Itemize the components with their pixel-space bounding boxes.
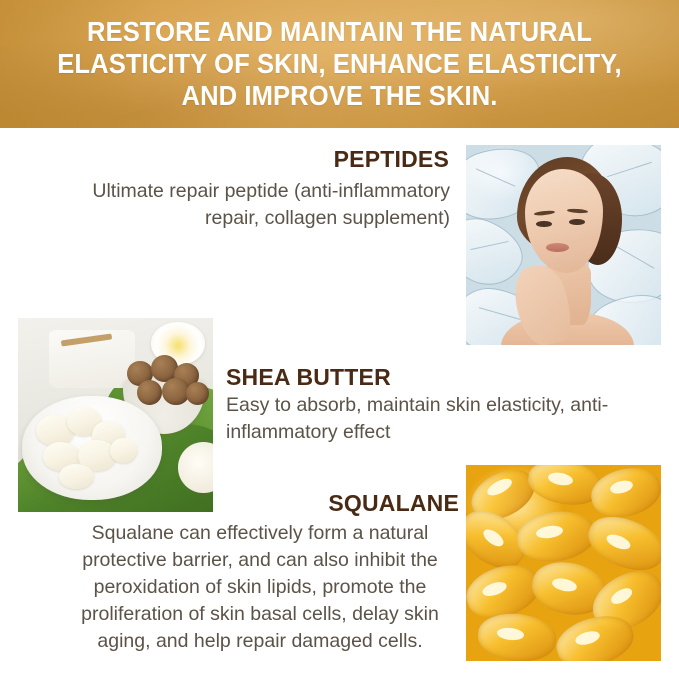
woman-face-ice-crystals-photo [466,145,661,345]
squalane-heading: SQUALANE [328,490,459,517]
shea-butter-bowl-nuts-photo [18,318,213,512]
banner-headline: RESTORE AND MAINTAIN THE NATURAL ELASTIC… [24,0,655,128]
shea-butter-heading: SHEA BUTTER [226,364,391,391]
banner-headline-line-2: ELASTICITY OF SKIN, ENHANCE ELASTICITY, [57,48,621,80]
banner-headline-line-1: RESTORE AND MAINTAIN THE NATURAL [87,16,592,48]
header-banner: RESTORE AND MAINTAIN THE NATURAL ELASTIC… [0,0,679,128]
shea-butter-body-text: Easy to absorb, maintain skin elasticity… [226,392,626,446]
shea-butter-chunk [59,464,94,489]
golden-oil-capsules-photo [466,465,661,661]
peptides-body-text: Ultimate repair peptide (anti-inflammato… [60,178,450,232]
banner-headline-line-3: AND IMPROVE THE SKIN. [182,80,498,112]
peptides-heading: PEPTIDES [334,146,449,173]
squalane-body-text: Squalane can effectively form a natural … [62,520,458,655]
